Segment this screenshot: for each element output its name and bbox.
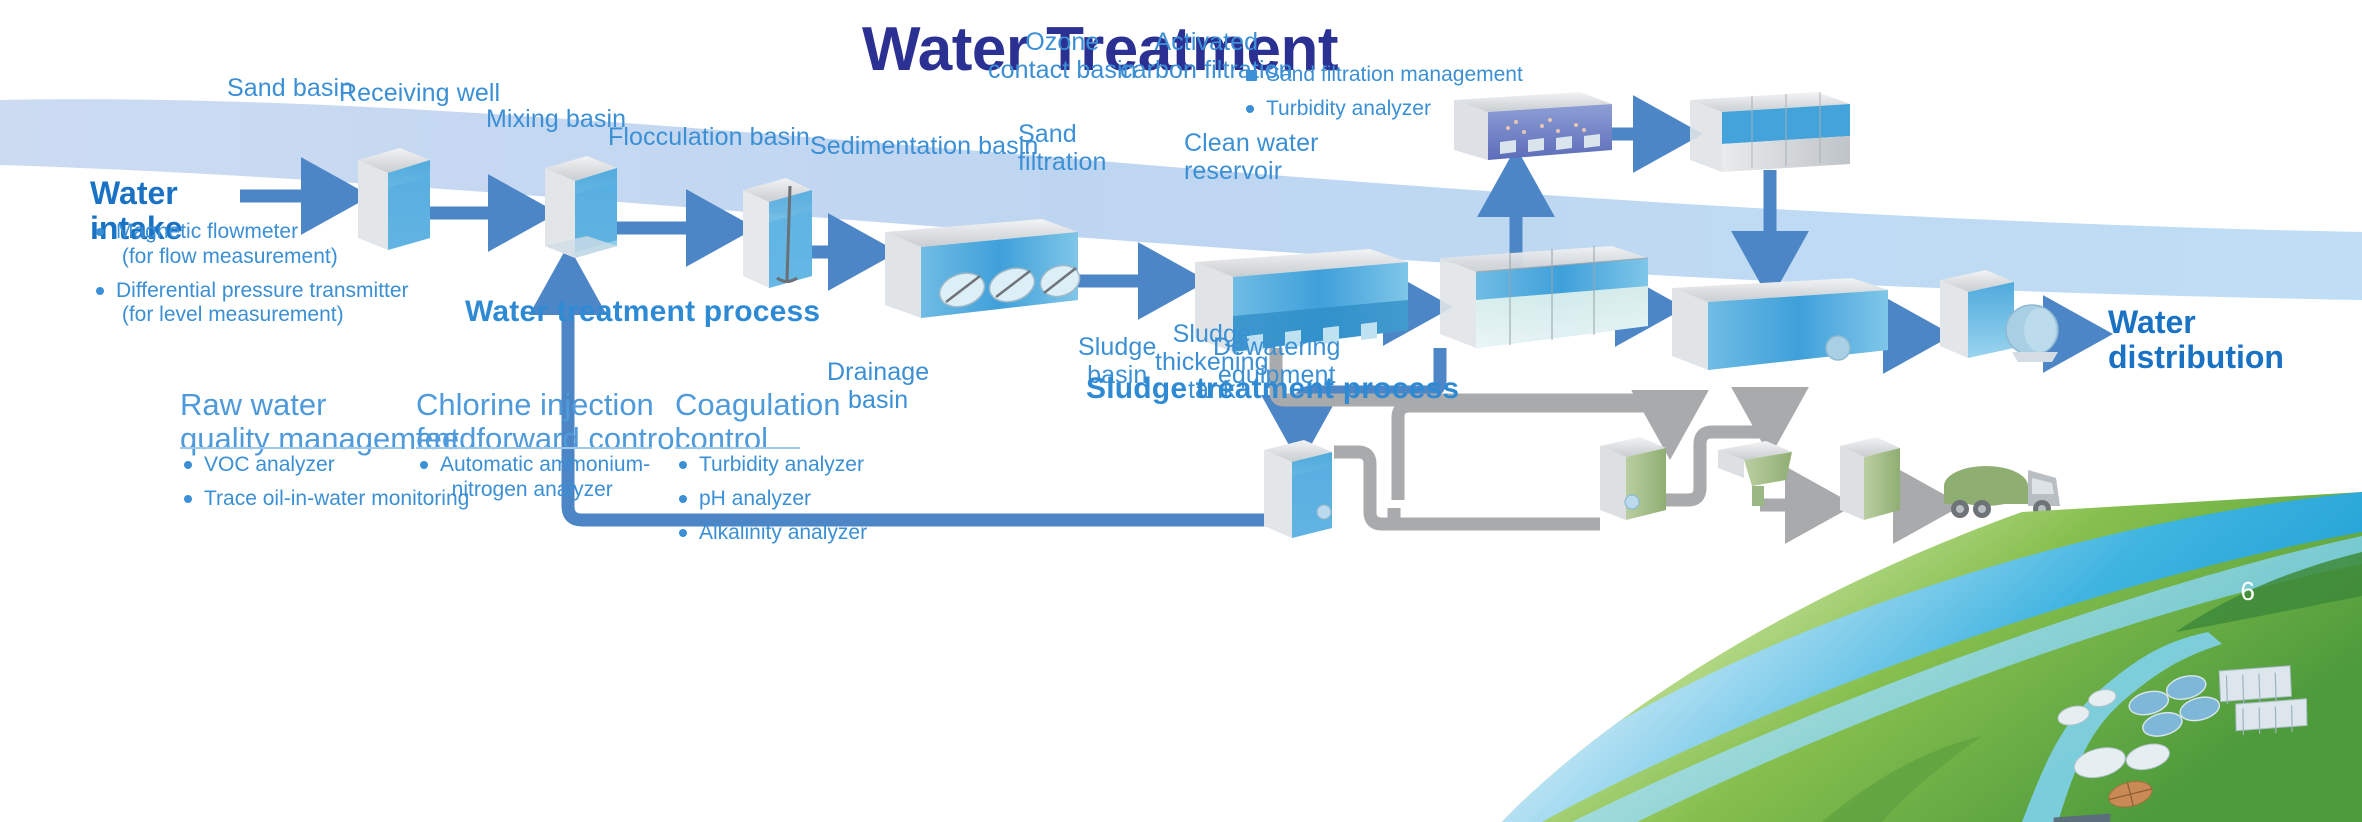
column-divider [180,447,402,449]
water-treatment-process-label: Water treatment process [465,295,820,329]
stage-label-clean-water-reservoir: Clean water reservoir [1184,129,1319,185]
list-item: pH analyzer [675,487,975,512]
sand-filtration-graphic [1440,246,1648,348]
activated-carbon-filtration-graphic [1690,92,1850,172]
filtration-legend: Sand filtration management Turbidity ana… [1242,63,1662,131]
intake-instrument-list: Magnetic flowmeter (for flow measurement… [92,220,472,337]
stage-label-ozone-contact-basin: Ozone contact basin [988,28,1137,84]
list-item: Magnetic flowmeter (for flow measurement… [92,220,472,270]
stage-label-sand-basin: Sand basin [227,74,353,102]
water-treatment-diagram: Water Treatment Water intake Water distr… [0,0,2362,822]
column-list-coagulation: Turbidity analyzer pH analyzer Alkalinit… [675,453,975,554]
legend-item-sand-filtration-management: Sand filtration management [1242,63,1662,88]
column-divider [416,447,652,449]
stage-label-sand-filtration: Sand filtration [1018,120,1107,176]
clean-water-reservoir-graphic [1672,278,1888,370]
list-item: Turbidity analyzer [675,453,975,478]
aerial-plant-photo: 6 [1462,492,2362,822]
distribution-pump-graphic [1940,270,2058,362]
stage-label-receiving-well: Receiving well [339,79,500,107]
receiving-well-graphic [545,156,617,258]
sludge-treatment-process-label: Sludge treatment process [1086,372,1459,406]
page-number: 6 [2241,576,2255,607]
legend-item-turbidity-analyzer: Turbidity analyzer [1242,97,1662,122]
water-distribution-label: Water distribution [2108,305,2284,374]
column-heading-coagulation: Coagulation control [675,388,840,456]
stage-label-drainage-basin: Drainage basin [827,358,929,414]
stage-label-sedimentation-basin: Sedimentation basin [810,132,1038,160]
list-item: Automatic ammonium- nitrogen analyzer [416,453,716,503]
list-item: Alkalinity analyzer [675,521,975,546]
stage-label-flocculation-basin: Flocculation basin [608,123,810,151]
flocculation-basin-graphic [885,219,1084,318]
column-heading-chlorine-injection: Chlorine injection feedforward control [416,388,681,456]
drainage-basin-graphic [1264,440,1332,538]
list-item: Differential pressure transmitter (for l… [92,279,472,329]
column-list-chlorine-injection: Automatic ammonium- nitrogen analyzer [416,453,716,512]
stage-label-mixing-basin: Mixing basin [486,105,626,133]
column-divider [675,447,800,449]
mixing-basin-graphic [743,178,812,288]
